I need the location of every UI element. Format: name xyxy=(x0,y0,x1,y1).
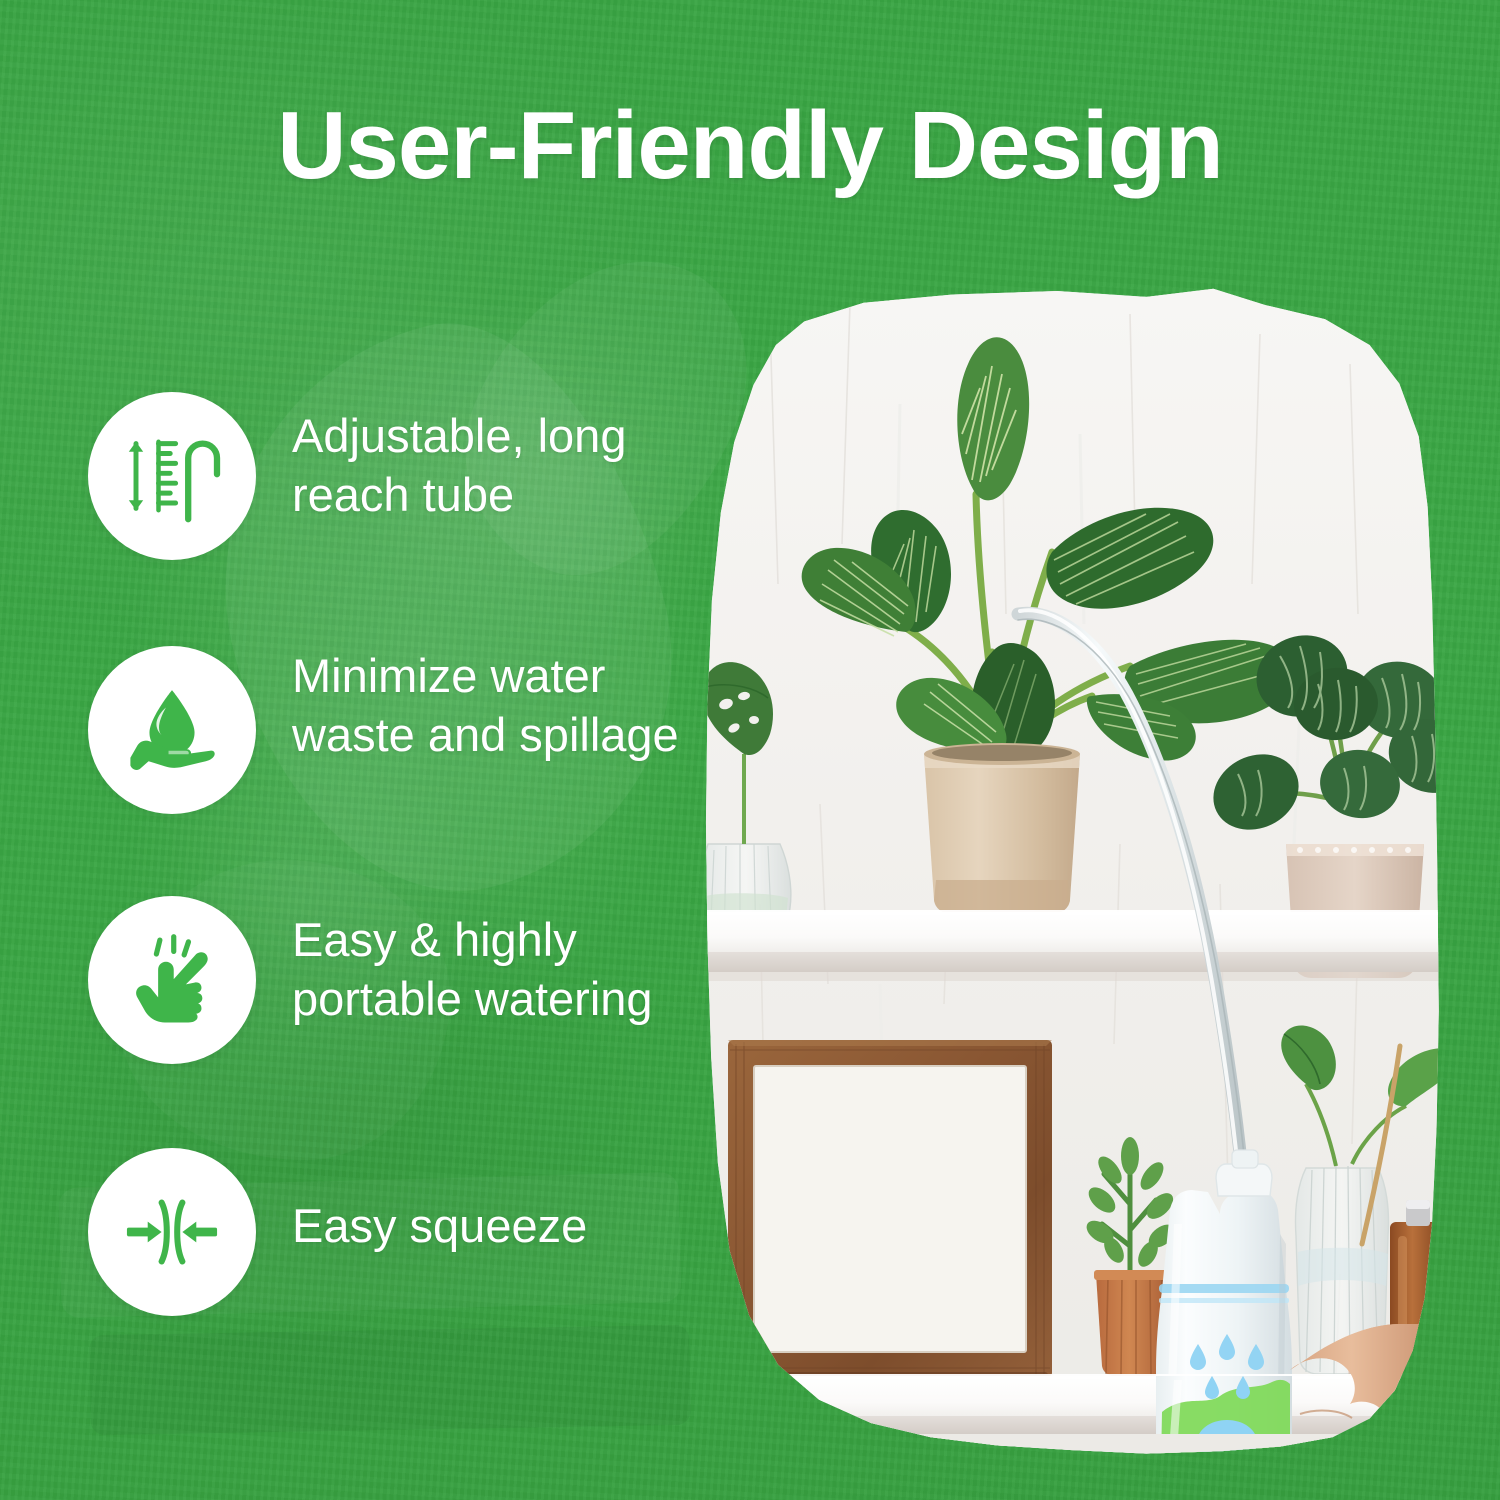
adjustable-tube-icon xyxy=(88,392,256,560)
feature-label: Easy squeeze xyxy=(292,1148,587,1255)
water-drop-hand-icon xyxy=(88,646,256,814)
tap-hand-icon xyxy=(88,896,256,1064)
ghost-shelf-watermark xyxy=(89,1325,691,1435)
feature-list: Adjustable, long reach tube Minimize wat… xyxy=(88,392,688,1316)
squeeze-arrows-icon xyxy=(88,1148,256,1316)
product-feature-poster: User-Friendly Design xyxy=(0,0,1500,1500)
feature-item-adjustable-tube: Adjustable, long reach tube xyxy=(88,392,688,560)
feature-label: Adjustable, long reach tube xyxy=(292,392,688,524)
page-title: User-Friendly Design xyxy=(0,96,1500,197)
product-scene-photo: UpBloom xyxy=(700,284,1444,1456)
feature-item-easy-squeeze: Easy squeeze xyxy=(88,1148,688,1316)
feature-item-portable-watering: Easy & highly portable watering xyxy=(88,896,688,1064)
feature-label: Easy & highly portable watering xyxy=(292,896,688,1028)
feature-label: Minimize water waste and spillage xyxy=(292,646,688,764)
feature-item-minimize-waste: Minimize water waste and spillage xyxy=(88,646,688,814)
